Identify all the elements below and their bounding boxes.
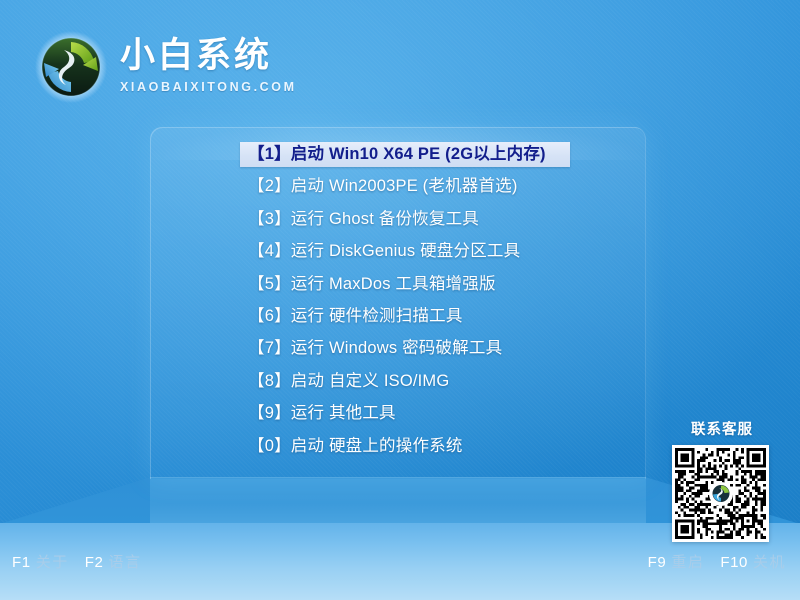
- boot-menu-item-8[interactable]: 【8】启动 自定义 ISO/IMG: [240, 369, 570, 394]
- qr-center-logo-icon: [709, 482, 733, 506]
- shortcut-f9[interactable]: F9重启: [648, 552, 705, 574]
- brand-name-cn: 小白系统: [120, 34, 297, 78]
- boot-menu-item-9[interactable]: 【9】运行 其他工具: [240, 401, 570, 426]
- shortcut-key: F2: [85, 554, 104, 571]
- brand-logo: 小白系统 XIAOBAIXITONG.COM: [34, 28, 284, 108]
- shortcut-key: F9: [648, 554, 667, 571]
- boot-menu-item-3[interactable]: 【3】运行 Ghost 备份恢复工具: [240, 207, 570, 232]
- circular-swoosh-logo-icon: [34, 30, 108, 104]
- boot-menu-item-1[interactable]: 【1】启动 Win10 X64 PE (2G以上内存): [240, 142, 570, 167]
- shortcut-label: 关于: [36, 554, 69, 571]
- boot-menu-list[interactable]: 【1】启动 Win10 X64 PE (2G以上内存)【2】启动 Win2003…: [240, 142, 570, 466]
- shortcut-label: 关机: [753, 554, 786, 571]
- brand-name-en: XIAOBAIXITONG.COM: [120, 80, 297, 94]
- shortcut-label: 重启: [671, 554, 704, 571]
- boot-menu-item-2[interactable]: 【2】启动 Win2003PE (老机器首选): [240, 174, 570, 199]
- contact-support-label: 联系客服: [672, 418, 772, 439]
- shortcut-f10[interactable]: F10关机: [720, 552, 786, 574]
- shortcut-f2[interactable]: F2语言: [85, 552, 142, 574]
- boot-menu-item-5[interactable]: 【5】运行 MaxDos 工具箱增强版: [240, 272, 570, 297]
- boot-menu-screen: 小白系统 XIAOBAIXITONG.COM 【1】启动 Win10 X64 P…: [0, 0, 800, 600]
- boot-menu-item-4[interactable]: 【4】运行 DiskGenius 硬盘分区工具: [240, 239, 570, 264]
- boot-menu-item-10[interactable]: 【0】启动 硬盘上的操作系统: [240, 434, 570, 459]
- shortcut-f1[interactable]: F1关于: [12, 552, 69, 574]
- pedestal-face: [150, 477, 646, 524]
- boot-menu-item-7[interactable]: 【7】运行 Windows 密码破解工具: [240, 336, 570, 361]
- contact-support: 联系客服: [672, 418, 772, 542]
- qr-code-icon[interactable]: [672, 445, 769, 542]
- footer-shortcuts-right: F9重启F10关机: [648, 552, 786, 574]
- footer-shortcuts-left: F1关于F2语言: [12, 552, 141, 574]
- shortcut-key: F10: [720, 554, 748, 571]
- pedestal-chamfer-left: [0, 477, 151, 524]
- brand-text: 小白系统 XIAOBAIXITONG.COM: [120, 34, 297, 94]
- shortcut-label: 语言: [108, 554, 141, 571]
- boot-menu-item-6[interactable]: 【6】运行 硬件检测扫描工具: [240, 304, 570, 329]
- shortcut-key: F1: [12, 554, 31, 571]
